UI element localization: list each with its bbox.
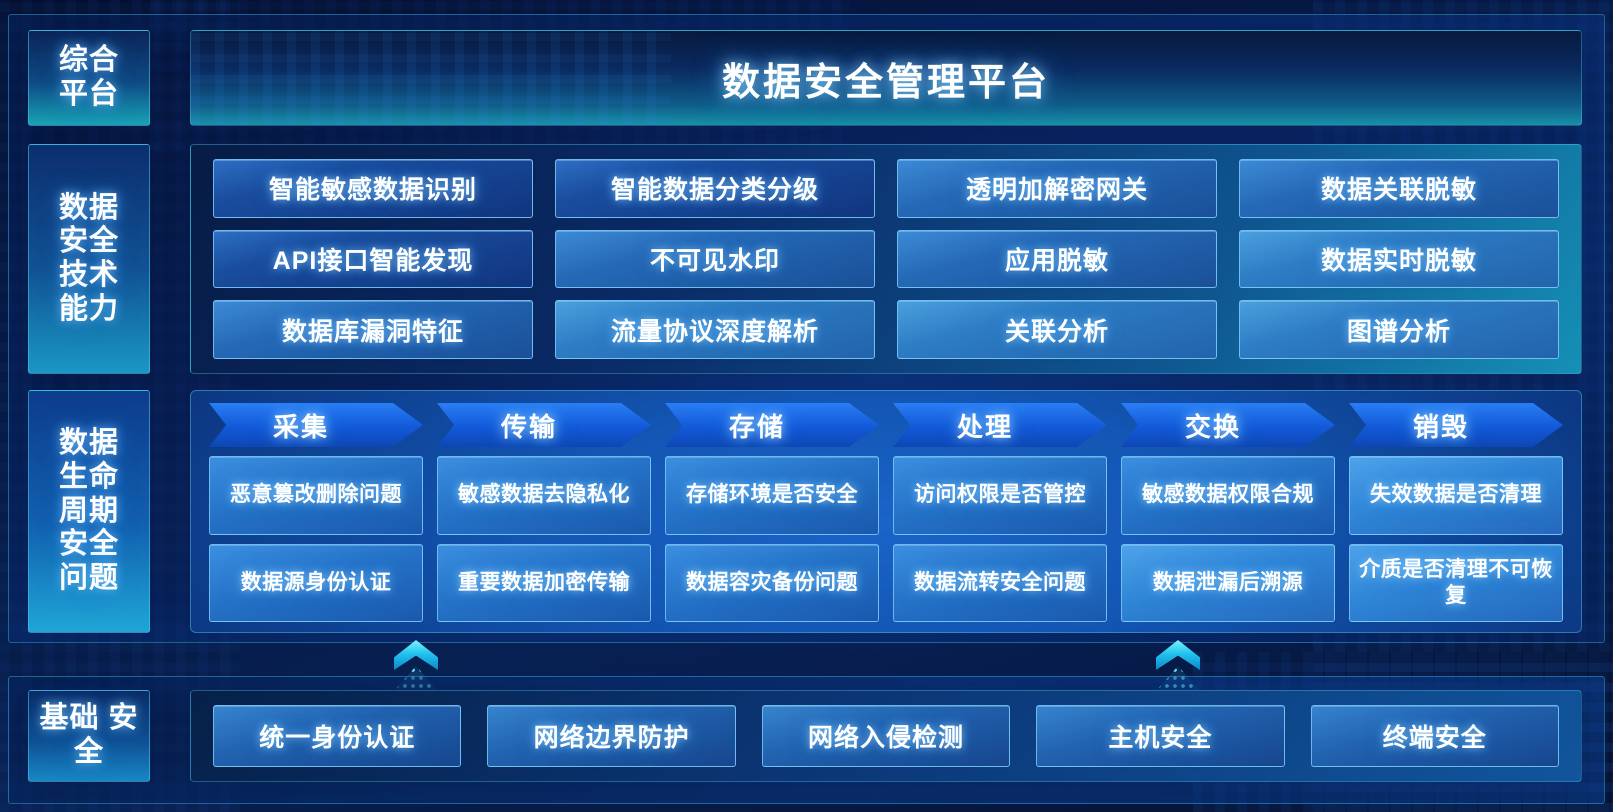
rail-tech-line-4: 能力 [59, 293, 119, 327]
tech-capability-item[interactable]: 数据关联脱敏 [1239, 159, 1559, 218]
rail-lifecycle-line-4: 安全 [59, 528, 119, 562]
data-lifecycle-security-panel: 采集 传输 存储 处理 交换 销毁 恶意篡改删除问题 敏感数据去隐私化 存储环境… [190, 390, 1582, 633]
basic-security-item[interactable]: 终端安全 [1311, 705, 1559, 767]
lifecycle-stage-header-store[interactable]: 存储 [665, 403, 879, 447]
lifecycle-issue-box[interactable]: 数据流转安全问题 [893, 544, 1107, 623]
tech-capability-item[interactable]: 智能数据分类分级 [555, 159, 875, 218]
lifecycle-issue-box[interactable]: 介质是否清理不可恢复 [1349, 544, 1563, 623]
rail-label-data-lifecycle-security-issues: 数据 生命 周期 安全 问题 [28, 390, 150, 633]
lifecycle-issue-box[interactable]: 数据容灾备份问题 [665, 544, 879, 623]
lifecycle-issue-box[interactable]: 访问权限是否管控 [893, 456, 1107, 535]
lifecycle-issue-box[interactable]: 数据源身份认证 [209, 544, 423, 623]
rail-label-comprehensive-platform: 综合 平台 [28, 30, 150, 126]
rail-platform-line-2: 平台 [59, 78, 119, 112]
lifecycle-stage-header-destroy[interactable]: 销毁 [1349, 403, 1563, 447]
diagram-canvas: 综合 平台 数据 安全 技术 能力 数据 生命 周期 安全 问题 数据安全管理平… [0, 0, 1613, 812]
rail-platform-line-1: 综合 [59, 44, 119, 78]
title-bar-mosaic [191, 31, 671, 125]
lifecycle-issue-box[interactable]: 敏感数据权限合规 [1121, 456, 1335, 535]
basic-security-item[interactable]: 网络边界防护 [487, 705, 735, 767]
rail-lifecycle-line-2: 生命 [59, 461, 119, 495]
basic-security-item[interactable]: 统一身份认证 [213, 705, 461, 767]
tech-capability-item[interactable]: 透明加解密网关 [897, 159, 1217, 218]
tech-capability-item[interactable]: 数据库漏洞特征 [213, 300, 533, 359]
tech-capability-item[interactable]: API接口智能发现 [213, 230, 533, 289]
tech-capability-item[interactable]: 不可见水印 [555, 230, 875, 289]
rail-lifecycle-line-5: 问题 [59, 562, 119, 596]
basic-security-item[interactable]: 网络入侵检测 [762, 705, 1010, 767]
lifecycle-issue-box[interactable]: 存储环境是否安全 [665, 456, 879, 535]
rail-basic-line-1: 基础 [39, 702, 99, 734]
lifecycle-stage-header-collect[interactable]: 采集 [209, 403, 423, 447]
rail-tech-line-2: 安全 [59, 225, 119, 259]
tech-capability-item[interactable]: 智能敏感数据识别 [213, 159, 533, 218]
basic-security-panel: 统一身份认证 网络边界防护 网络入侵检测 主机安全 终端安全 [190, 690, 1582, 782]
up-arrow-glow-head-icon [1156, 640, 1200, 670]
lifecycle-issue-box[interactable]: 数据泄漏后溯源 [1121, 544, 1335, 623]
lifecycle-stage-header-exchange[interactable]: 交换 [1121, 403, 1335, 447]
tech-capability-item[interactable]: 应用脱敏 [897, 230, 1217, 289]
tech-capability-item[interactable]: 数据实时脱敏 [1239, 230, 1559, 289]
tech-capability-item[interactable]: 图谱分析 [1239, 300, 1559, 359]
lifecycle-issue-box[interactable]: 敏感数据去隐私化 [437, 456, 651, 535]
platform-title-bar: 数据安全管理平台 [190, 30, 1582, 126]
lifecycle-stage-header-process[interactable]: 处理 [893, 403, 1107, 447]
page-title: 数据安全管理平台 [722, 51, 1050, 106]
rail-lifecycle-line-1: 数据 [59, 427, 119, 461]
rail-label-basic-security: 基础 安全 [28, 690, 150, 782]
rail-label-data-security-tech-capability: 数据 安全 技术 能力 [28, 144, 150, 374]
basic-security-item[interactable]: 主机安全 [1036, 705, 1284, 767]
tech-capability-item[interactable]: 关联分析 [897, 300, 1217, 359]
up-arrow-glow-head-icon [394, 640, 438, 670]
lifecycle-issue-box[interactable]: 重要数据加密传输 [437, 544, 651, 623]
rail-lifecycle-line-3: 周期 [59, 495, 119, 529]
lifecycle-issue-box[interactable]: 失效数据是否清理 [1349, 456, 1563, 535]
rail-tech-line-1: 数据 [59, 192, 119, 226]
lifecycle-issue-box[interactable]: 恶意篡改删除问题 [209, 456, 423, 535]
data-security-tech-capability-panel: 智能敏感数据识别 智能数据分类分级 透明加解密网关 数据关联脱敏 API接口智能… [190, 144, 1582, 374]
lifecycle-stage-header-transmit[interactable]: 传输 [437, 403, 651, 447]
rail-tech-line-3: 技术 [59, 259, 119, 293]
tech-capability-item[interactable]: 流量协议深度解析 [555, 300, 875, 359]
